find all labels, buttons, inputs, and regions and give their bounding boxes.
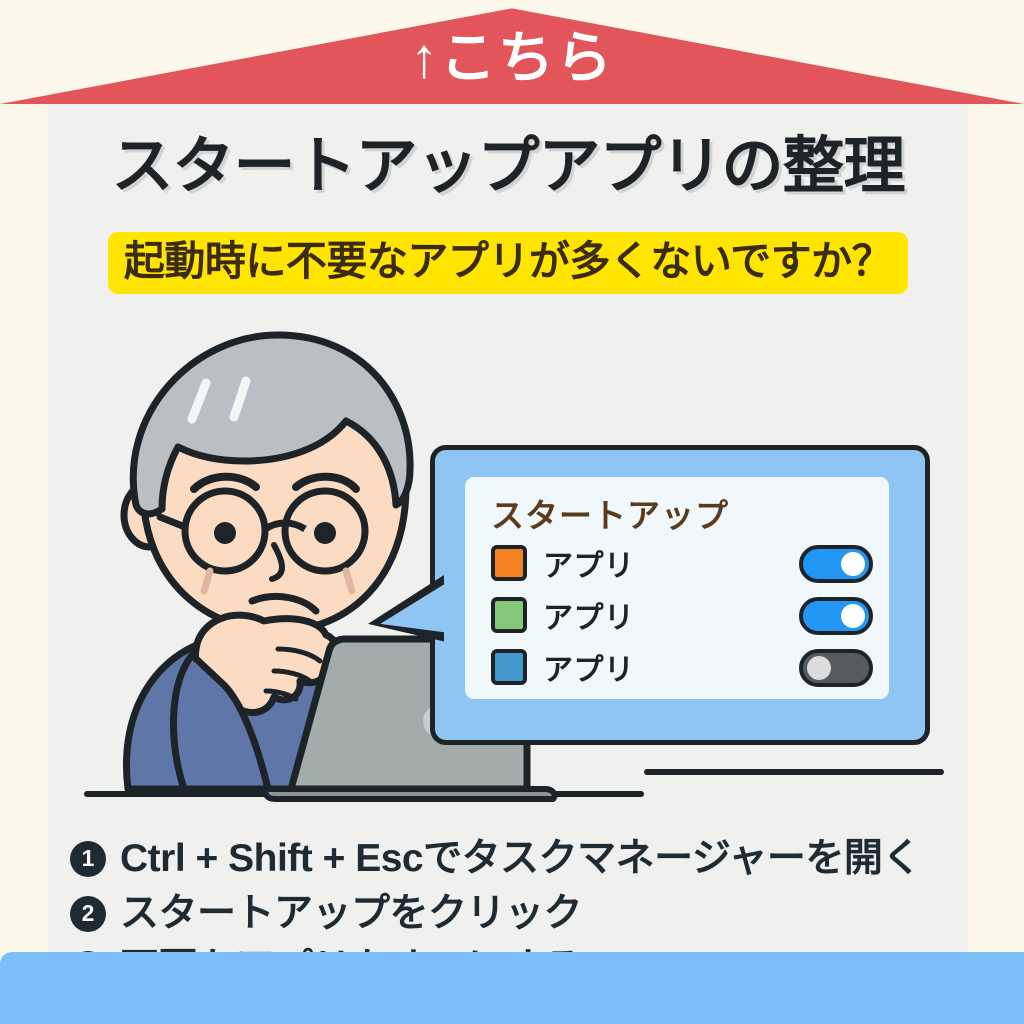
- page-title: スタートアップアプリの整理: [96, 136, 920, 198]
- app-label-2: アプリ: [543, 593, 635, 637]
- app-toggle-2[interactable]: [799, 597, 873, 635]
- toggle-knob: [841, 552, 865, 576]
- subtitle-container: 起動時に不要なアプリが多くないですか？: [40, 232, 976, 294]
- startup-app-row-3[interactable]: アプリ: [491, 643, 873, 691]
- toggle-knob: [841, 604, 865, 628]
- footer-bar: [0, 952, 1024, 1024]
- startup-app-row-1[interactable]: アプリ: [491, 539, 873, 587]
- content-card: スタートアップアプリの整理 起動時に不要なアプリが多くないですか？: [48, 104, 968, 952]
- subtitle-highlight: 起動時に不要なアプリが多くないですか？: [108, 232, 908, 294]
- app-toggle-1[interactable]: [799, 545, 873, 583]
- app-icon-orange: [491, 545, 527, 581]
- infographic-canvas: ↑こちら スタートアップアプリの整理 起動時に不要なアプリが多くないですか？: [0, 0, 1024, 1024]
- step-number-badge-2: 2: [70, 896, 106, 932]
- step-number-badge-1: 1: [70, 841, 106, 877]
- app-label-3: アプリ: [543, 645, 635, 689]
- illustration-area: スタートアップ アプリ アプリ アプリ: [48, 309, 968, 829]
- banner-label: ↑こちら: [0, 30, 1024, 86]
- app-label-1: アプリ: [543, 541, 635, 585]
- toggle-knob: [807, 656, 831, 680]
- app-icon-green: [491, 597, 527, 633]
- startup-settings-panel: スタートアップ アプリ アプリ アプリ: [430, 445, 930, 745]
- app-toggle-3[interactable]: [799, 649, 873, 687]
- startup-app-row-2[interactable]: アプリ: [491, 591, 873, 639]
- startup-panel-heading: スタートアップ: [491, 489, 729, 537]
- startup-panel-body: スタートアップ アプリ アプリ アプリ: [465, 477, 889, 699]
- step-text-1: Ctrl + Shift + Escでタスクマネージャーを開く: [120, 839, 921, 878]
- app-icon-blue: [491, 649, 527, 685]
- desk-line-right: [644, 769, 944, 775]
- step-item-2: 2 スタートアップをクリック: [48, 894, 968, 933]
- step-text-2: スタートアップをクリック: [120, 894, 582, 933]
- step-item-1: 1 Ctrl + Shift + Escでタスクマネージャーを開く: [48, 839, 968, 878]
